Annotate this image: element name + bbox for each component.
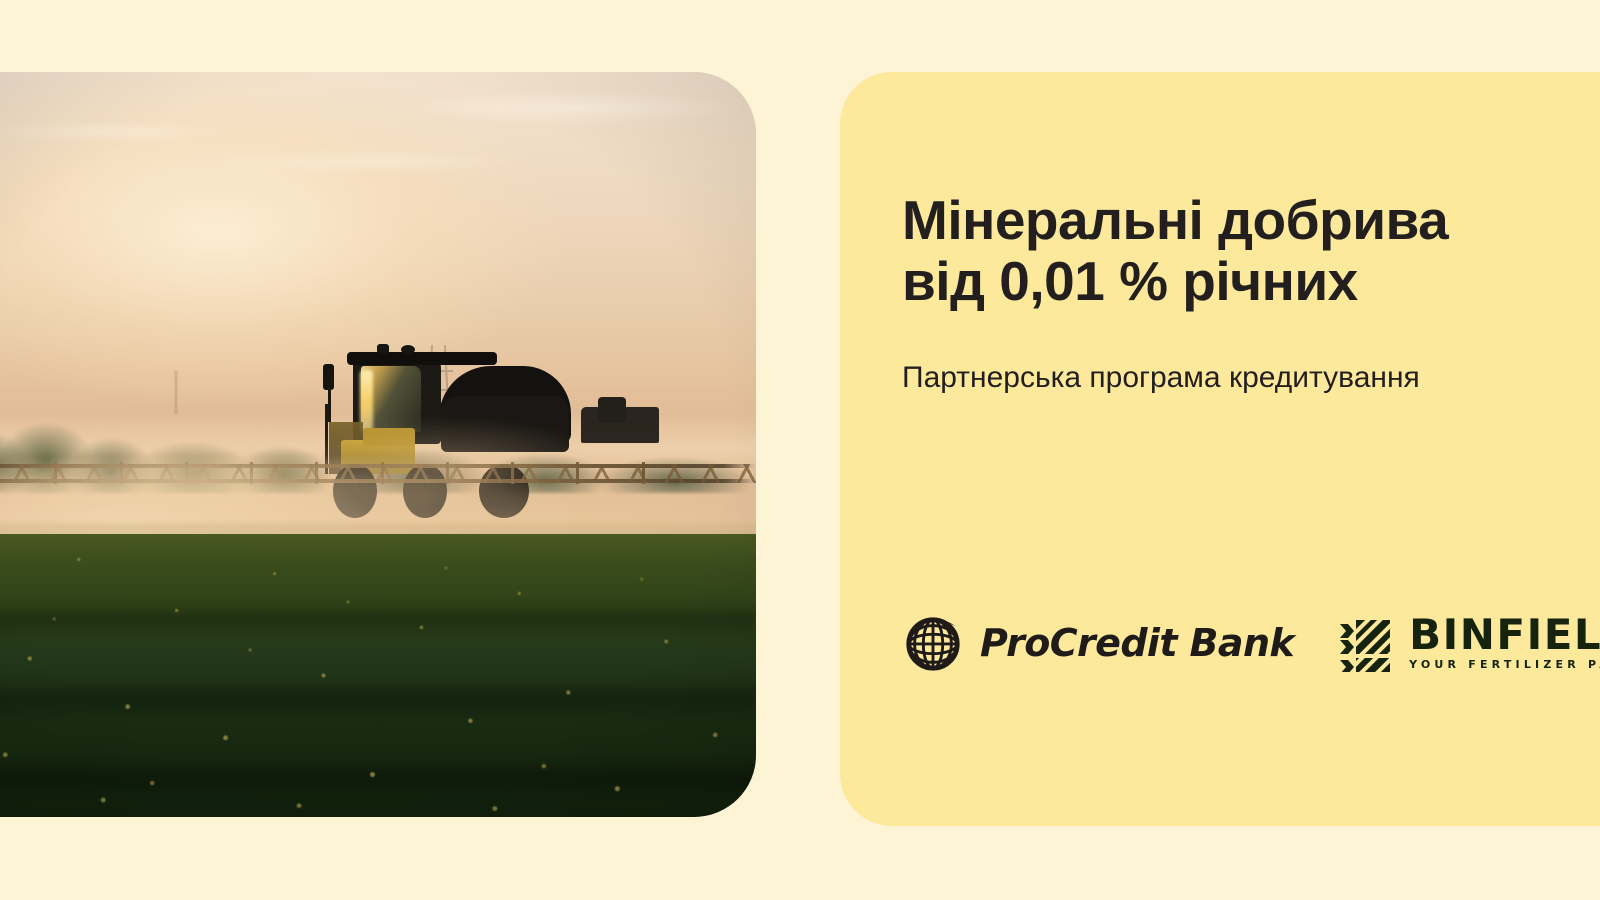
procredit-wordmark: ProCredit Bank: [980, 621, 1294, 665]
offer-card: Мінеральні добрива від 0,01 % річних Пар…: [840, 72, 1600, 826]
promo-banner: Мінеральні добрива від 0,01 % річних Пар…: [0, 0, 1600, 900]
photo-vignette: [0, 72, 756, 817]
binfield-wordmark: BINFIELD: [1409, 615, 1600, 655]
logo-procredit-bank: ProCredit Bank: [902, 612, 1294, 674]
subtitle-text: Партнерська програма кредитування: [902, 358, 1542, 397]
binfield-tagline: YOUR FERTILIZER PARTNER: [1409, 658, 1600, 671]
binfield-mark-icon: [1338, 614, 1396, 672]
hero-photo: [0, 72, 756, 817]
page-title: Мінеральні добрива від 0,01 % річних: [902, 190, 1522, 312]
logo-binfield: BINFIELD ® YOUR FERTILIZER PARTNER: [1338, 614, 1600, 672]
globe-icon: [902, 612, 964, 674]
partner-logo-row: ProCredit Bank: [902, 612, 1600, 674]
